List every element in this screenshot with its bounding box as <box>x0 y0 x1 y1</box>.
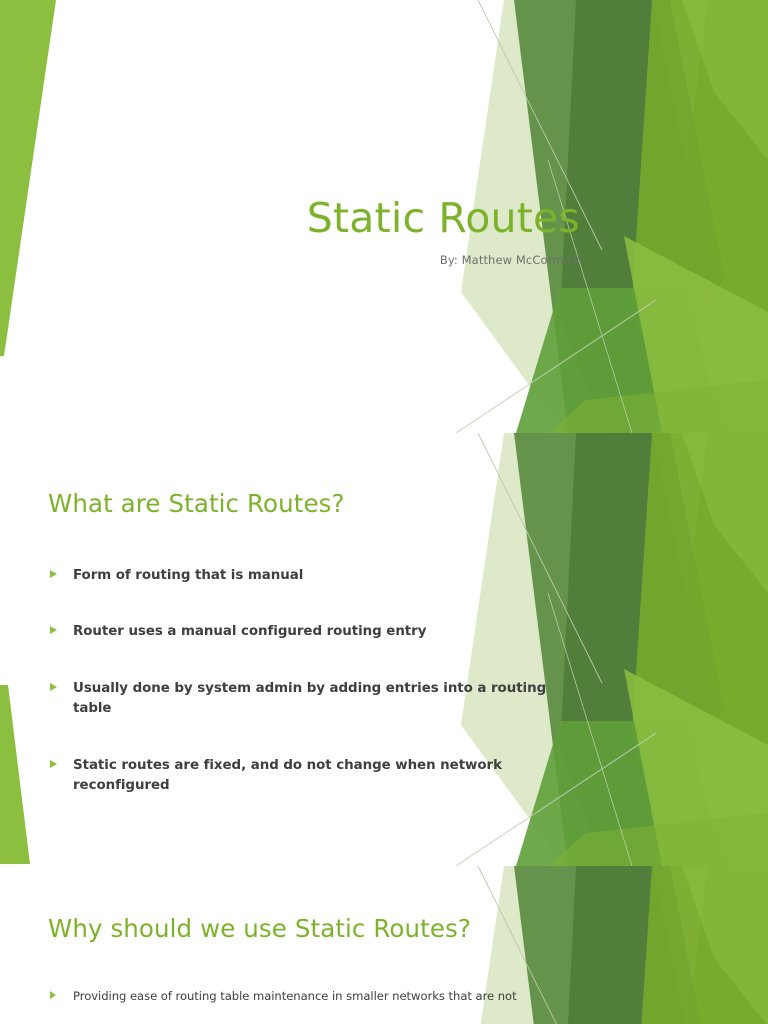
triangle-bullet-icon <box>50 626 57 634</box>
list-item: Form of routing that is manual <box>48 566 583 586</box>
page-title: Static Routes <box>60 196 580 242</box>
slide-title: Static Routes By: Matthew McCormick <box>0 0 768 433</box>
slide-what-are-static-routes: What are Static Routes? Form of routing … <box>0 433 768 866</box>
triangle-bullet-icon <box>50 991 56 999</box>
list-item-label: Static routes are fixed, and do not chan… <box>73 758 502 793</box>
title-subtitle: By: Matthew McCormick <box>60 253 580 267</box>
list-item-label: Router uses a manual configured routing … <box>73 624 426 639</box>
title-block: Static Routes By: Matthew McCormick <box>60 196 580 267</box>
list-item: Usually done by system admin by adding e… <box>48 679 583 720</box>
slide-heading: Why should we use Static Routes? <box>48 914 471 943</box>
list-item-label: Usually done by system admin by adding e… <box>73 681 546 716</box>
bullet-list: Form of routing that is manual Router us… <box>48 566 583 796</box>
list-item-label: Form of routing that is manual <box>73 568 303 583</box>
triangle-bullet-icon <box>50 570 57 578</box>
slide-why-use-static-routes: Why should we use Static Routes? Providi… <box>0 866 768 1024</box>
list-item-label: Providing ease of routing table maintena… <box>73 989 517 1003</box>
slide-heading: What are Static Routes? <box>48 489 345 518</box>
list-item: Static routes are fixed, and do not chan… <box>48 756 583 797</box>
list-item: Router uses a manual configured routing … <box>48 622 583 642</box>
triangle-bullet-icon <box>50 683 57 691</box>
pdf-page: Static Routes By: Matthew McCormick <box>0 0 768 1024</box>
triangle-bullet-icon <box>50 760 57 768</box>
bullet-list: Providing ease of routing table maintena… <box>48 988 583 1024</box>
list-item: Providing ease of routing table maintena… <box>48 988 583 1006</box>
